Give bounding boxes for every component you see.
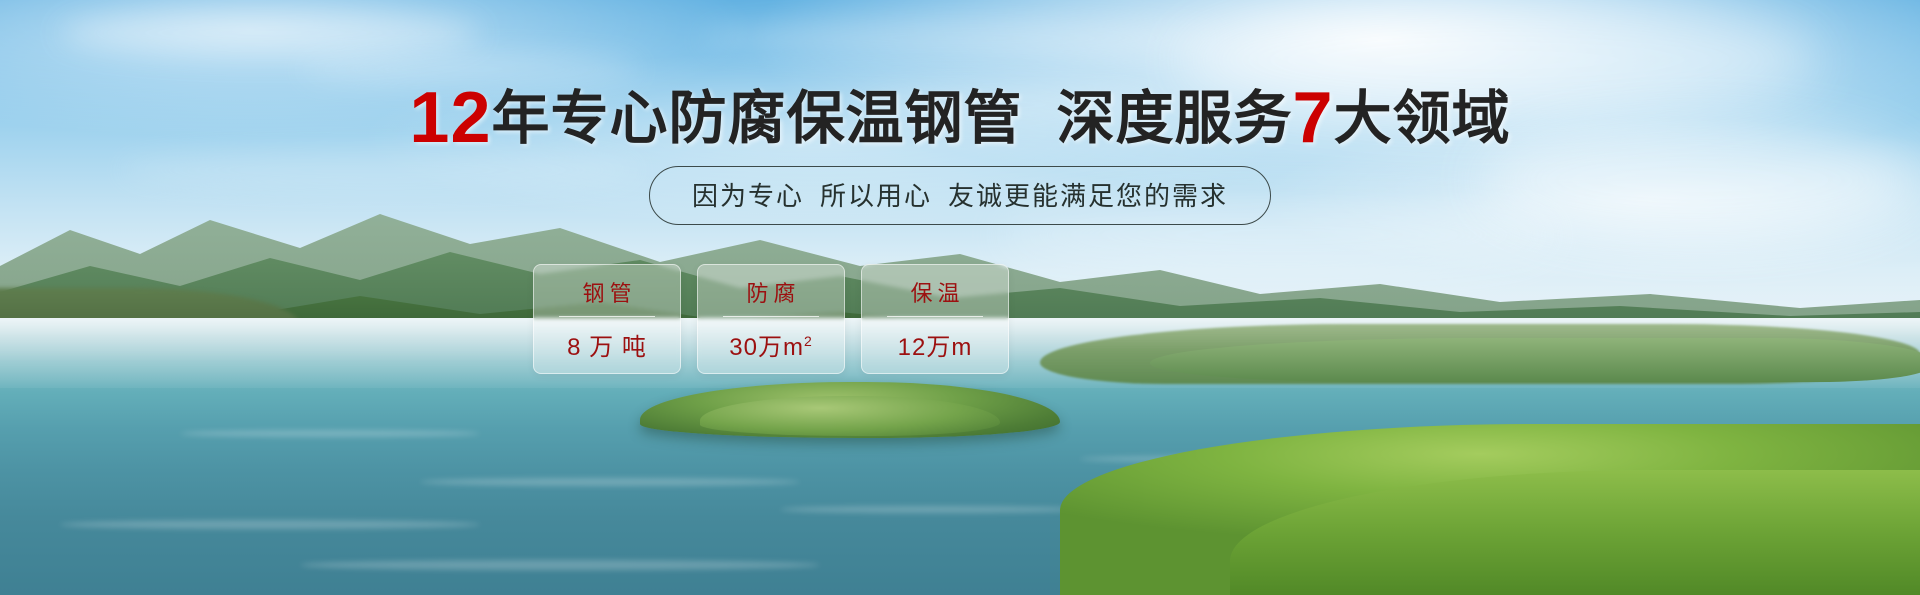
stat-value-text: 12万m xyxy=(898,334,973,361)
page-title: 12年专心防腐保温钢管深度服务7大领域 xyxy=(0,85,1920,152)
subtitle-pill: 因为专心所以用心友诚更能满足您的需求 xyxy=(649,166,1271,225)
stat-card-divider xyxy=(559,316,655,317)
subtitle-part-3: 友诚更能满足您的需求 xyxy=(948,181,1228,211)
stat-card-value: 8 万 吨 xyxy=(567,327,647,362)
stat-card-label: 保温 xyxy=(905,276,964,308)
stat-card-value: 12万m xyxy=(898,327,973,362)
stat-card-insulation[interactable]: 保温 12万m xyxy=(861,264,1009,374)
stat-card-label: 钢管 xyxy=(577,276,636,308)
subtitle-part-2: 所以用心 xyxy=(820,181,932,211)
headline-number-fields: 7 xyxy=(1293,78,1334,158)
stats-card-group: 钢管 8 万 吨 防腐 30万m2 保温 12万m xyxy=(533,264,1009,374)
headline-text-primary: 年专心防腐保温钢管 xyxy=(492,86,1023,151)
headline-text-tertiary: 大领域 xyxy=(1334,86,1511,151)
subtitle-container: 因为专心所以用心友诚更能满足您的需求 xyxy=(0,166,1920,225)
banner-content: 12年专心防腐保温钢管深度服务7大领域 因为专心所以用心友诚更能满足您的需求 钢… xyxy=(0,0,1920,595)
stat-card-divider xyxy=(723,316,819,317)
hero-banner: 12年专心防腐保温钢管深度服务7大领域 因为专心所以用心友诚更能满足您的需求 钢… xyxy=(0,0,1920,595)
stat-card-anticorrosion[interactable]: 防腐 30万m2 xyxy=(697,264,845,374)
headline-text-secondary: 深度服务 xyxy=(1057,86,1293,151)
stat-card-divider xyxy=(887,316,983,317)
stat-value-exponent: 2 xyxy=(804,333,813,349)
stat-card-value: 30万m2 xyxy=(729,327,812,362)
subtitle-part-1: 因为专心 xyxy=(692,181,804,211)
stat-card-label: 防腐 xyxy=(741,276,800,308)
stat-value-text: 30万m xyxy=(729,334,804,361)
stat-card-steel-pipe[interactable]: 钢管 8 万 吨 xyxy=(533,264,681,374)
stat-value-text: 8 万 吨 xyxy=(567,334,647,361)
headline-number-years: 12 xyxy=(409,78,491,158)
